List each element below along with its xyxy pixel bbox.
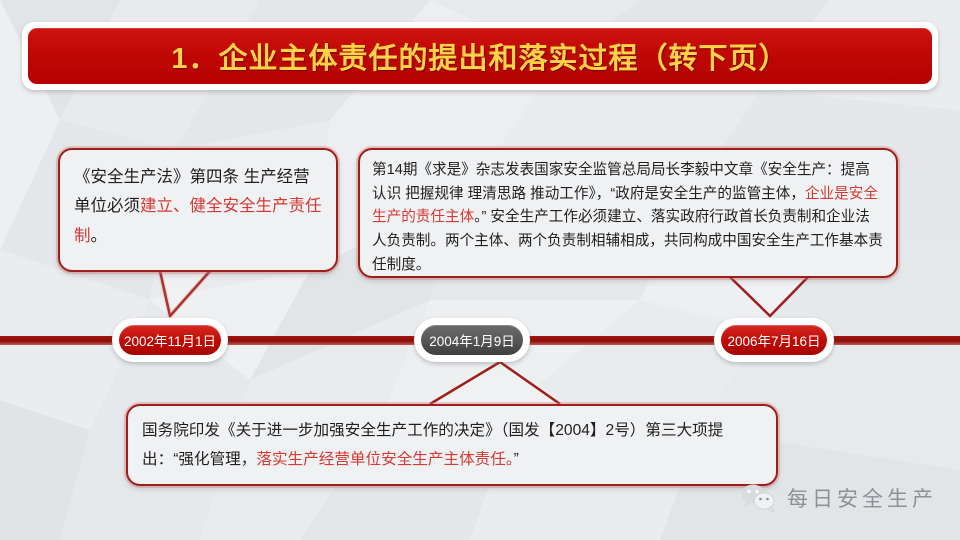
timeline-segment bbox=[828, 336, 960, 345]
callout-law-body: 《安全生产法》第四条 生产经营单位必须建立、健全安全生产责任制。 bbox=[60, 150, 336, 264]
date-badge-label: 2002年11月1日 bbox=[124, 330, 216, 350]
callout-decision-text-2: ” bbox=[514, 451, 519, 468]
slide-title-bar: 1．企业主体责任的提出和落实过程（转下页） bbox=[28, 28, 932, 84]
callout-article-body: 第14期《求是》杂志发表国家安全监管总局局长李毅中文章《安全生产：提高认识 把握… bbox=[360, 150, 896, 286]
timeline-segment bbox=[528, 336, 720, 345]
date-badge-label: 2004年1月9日 bbox=[429, 330, 515, 350]
callout-article: 第14期《求是》杂志发表国家安全监管总局局长李毅中文章《安全生产：提高认识 把握… bbox=[358, 148, 898, 278]
callout-law-text-2: 。 bbox=[91, 227, 108, 245]
timeline-segment bbox=[0, 336, 118, 345]
timeline-segment bbox=[224, 336, 420, 345]
page-title: 1．企业主体责任的提出和落实过程（转下页） bbox=[171, 35, 788, 77]
callout-decision-body: 国务院印发《关于进一步加强安全生产工作的决定》（国发【2004】2号）第三大项提… bbox=[128, 406, 776, 486]
watermark: 每日安全生产 bbox=[740, 483, 937, 513]
slide-canvas: 1．企业主体责任的提出和落实过程（转下页） 2002年11月1日 2004年1月… bbox=[0, 0, 960, 540]
date-badge-label: 2006年7月16日 bbox=[727, 330, 820, 350]
callout-decision: 国务院印发《关于进一步加强安全生产工作的决定》（国发【2004】2号）第三大项提… bbox=[126, 404, 778, 486]
wechat-icon bbox=[740, 483, 778, 513]
date-badge-2002[interactable]: 2002年11月1日 bbox=[119, 325, 221, 355]
callout-law: 《安全生产法》第四条 生产经营单位必须建立、健全安全生产责任制。 bbox=[58, 148, 338, 272]
date-badge-2006[interactable]: 2006年7月16日 bbox=[721, 325, 827, 355]
callout-article-text-1: 第14期《求是》杂志发表国家安全监管总局局长李毅中文章《安全生产：提高认识 把握… bbox=[372, 162, 870, 202]
watermark-label: 每日安全生产 bbox=[787, 483, 937, 513]
date-badge-2004[interactable]: 2004年1月9日 bbox=[421, 325, 523, 355]
callout-decision-text-highlight: 落实生产经营单位安全生产主体责任。 bbox=[256, 451, 513, 468]
